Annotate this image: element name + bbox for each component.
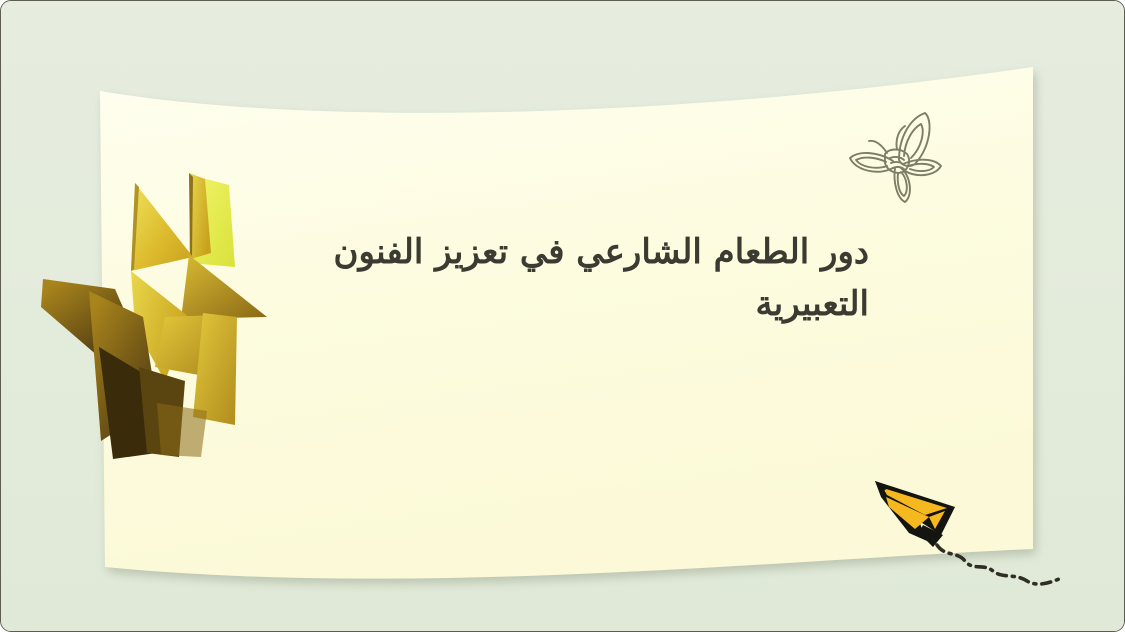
dashed-trail-icon bbox=[937, 545, 1059, 584]
origami-fox-photo bbox=[39, 167, 285, 467]
butterfly-outline-icon bbox=[841, 106, 953, 206]
page-title: دور الطعام الشارعي في تعزيز الفنون التعب… bbox=[277, 227, 869, 330]
title-text: دور الطعام الشارعي في تعزيز الفنون التعب… bbox=[277, 227, 869, 330]
origami-ear-left bbox=[131, 183, 193, 271]
slide: دور الطعام الشارعي في تعزيز الفنون التعب… bbox=[0, 0, 1125, 632]
paper-plane-body bbox=[875, 481, 955, 547]
paper-plane-icon bbox=[863, 463, 1078, 593]
